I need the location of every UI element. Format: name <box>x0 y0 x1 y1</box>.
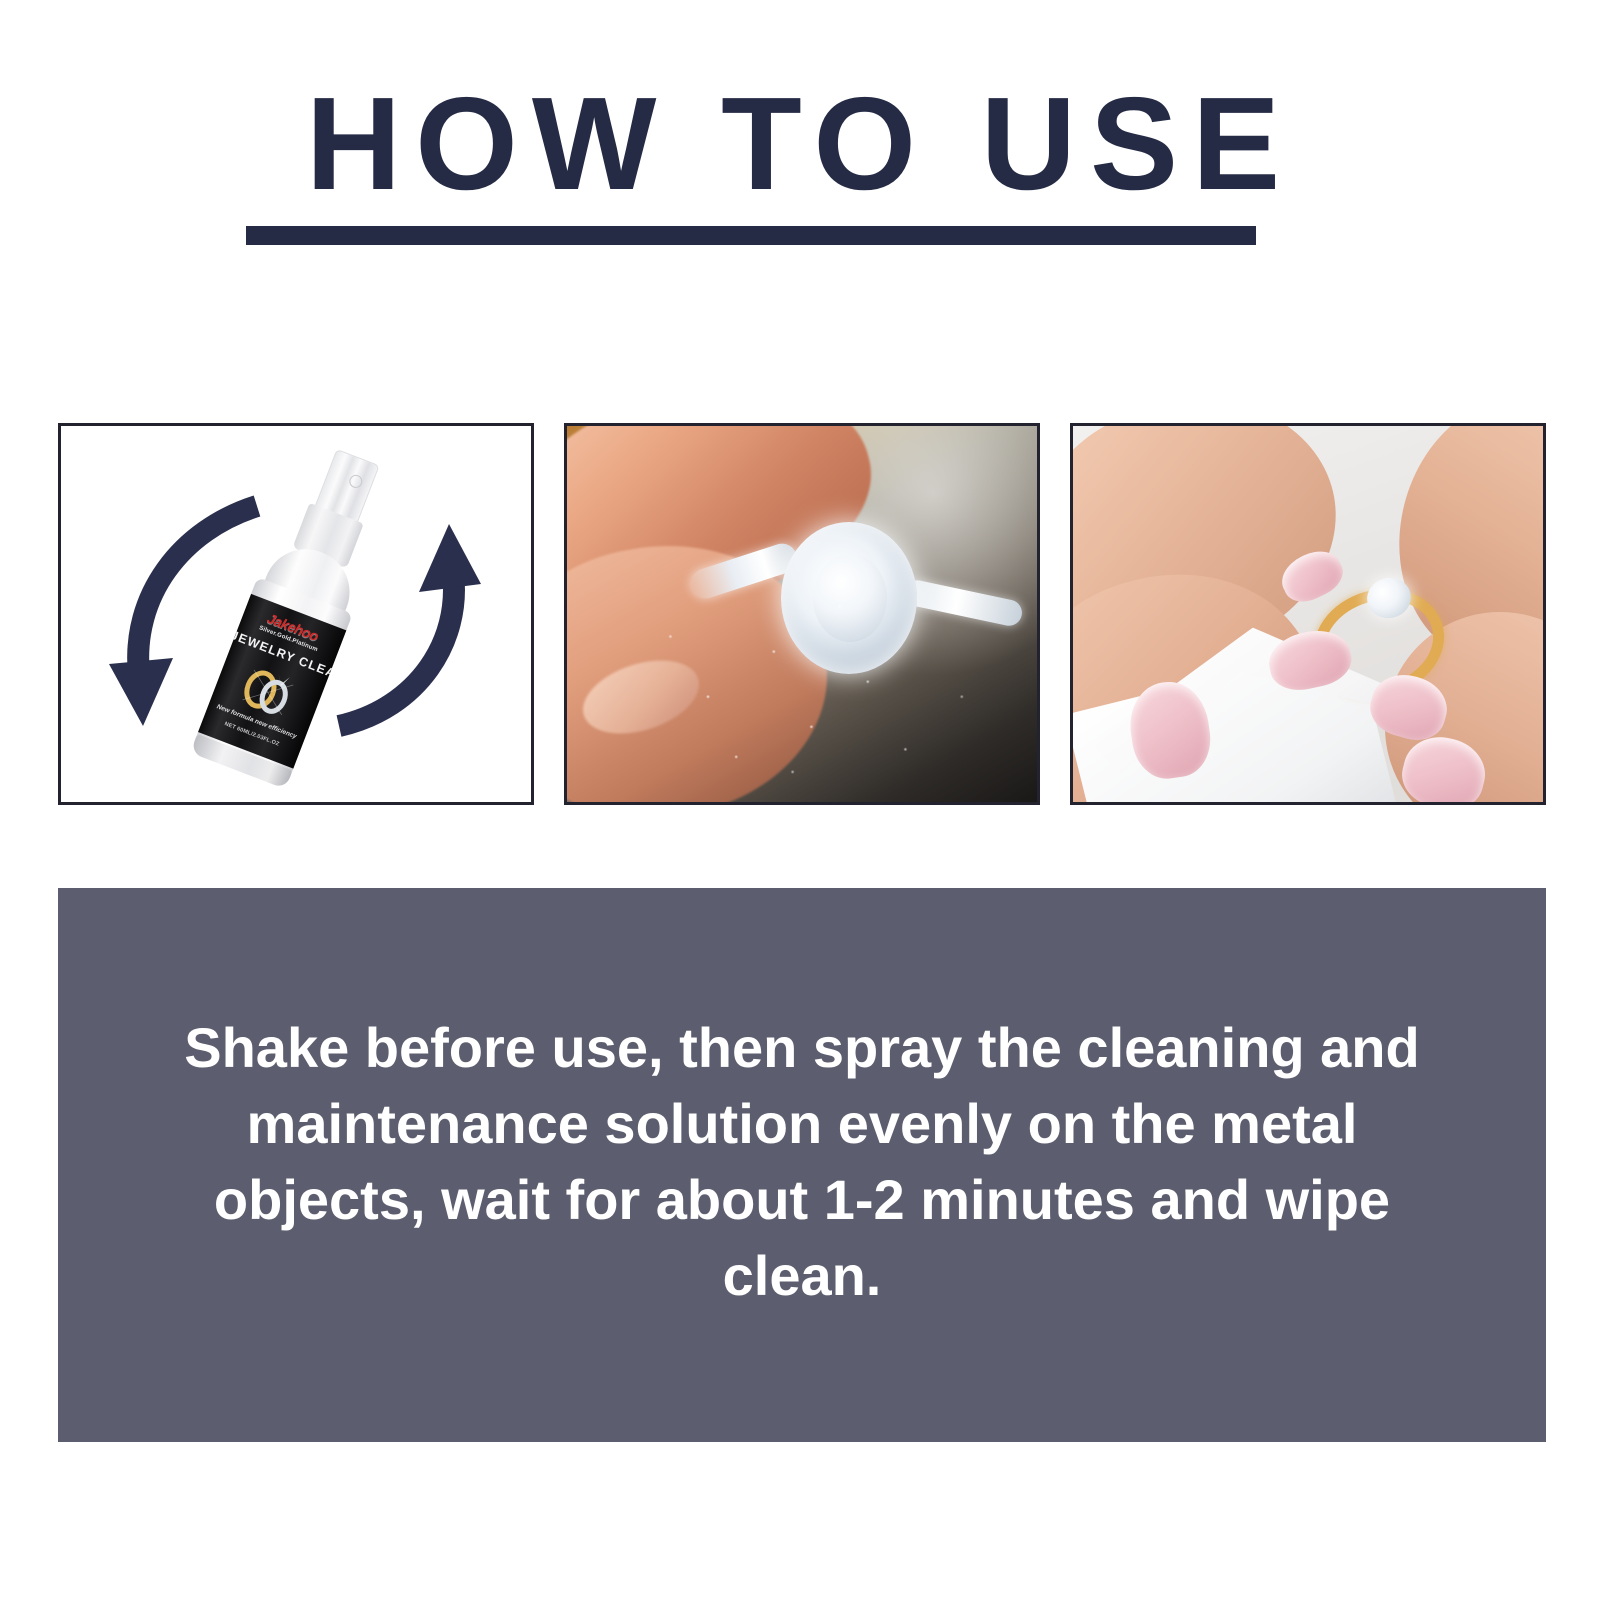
diamond-center-stone <box>813 554 887 642</box>
step-panel-spray <box>564 423 1040 805</box>
instruction-text: Shake before use, then spray the cleanin… <box>142 1010 1462 1320</box>
page-header: HOW TO USE <box>0 0 1600 300</box>
title-underline-rule <box>246 226 1256 245</box>
ring-band-right <box>902 578 1025 628</box>
spray-ring-photo <box>567 426 1037 802</box>
step-panel-wipe <box>1070 423 1546 805</box>
cap-vent-dot-icon <box>347 473 364 490</box>
shake-illustration: Jakehoo Silver.Gold.Platinum JEWELRY CLE… <box>61 426 531 802</box>
wipe-ring-photo <box>1073 426 1543 802</box>
instruction-panel: Shake before use, then spray the cleanin… <box>58 888 1546 1442</box>
step-panel-shake: Jakehoo Silver.Gold.Platinum JEWELRY CLE… <box>58 423 534 805</box>
page-title: HOW TO USE <box>0 78 1600 210</box>
step-image-row: Jakehoo Silver.Gold.Platinum JEWELRY CLE… <box>58 423 1546 805</box>
